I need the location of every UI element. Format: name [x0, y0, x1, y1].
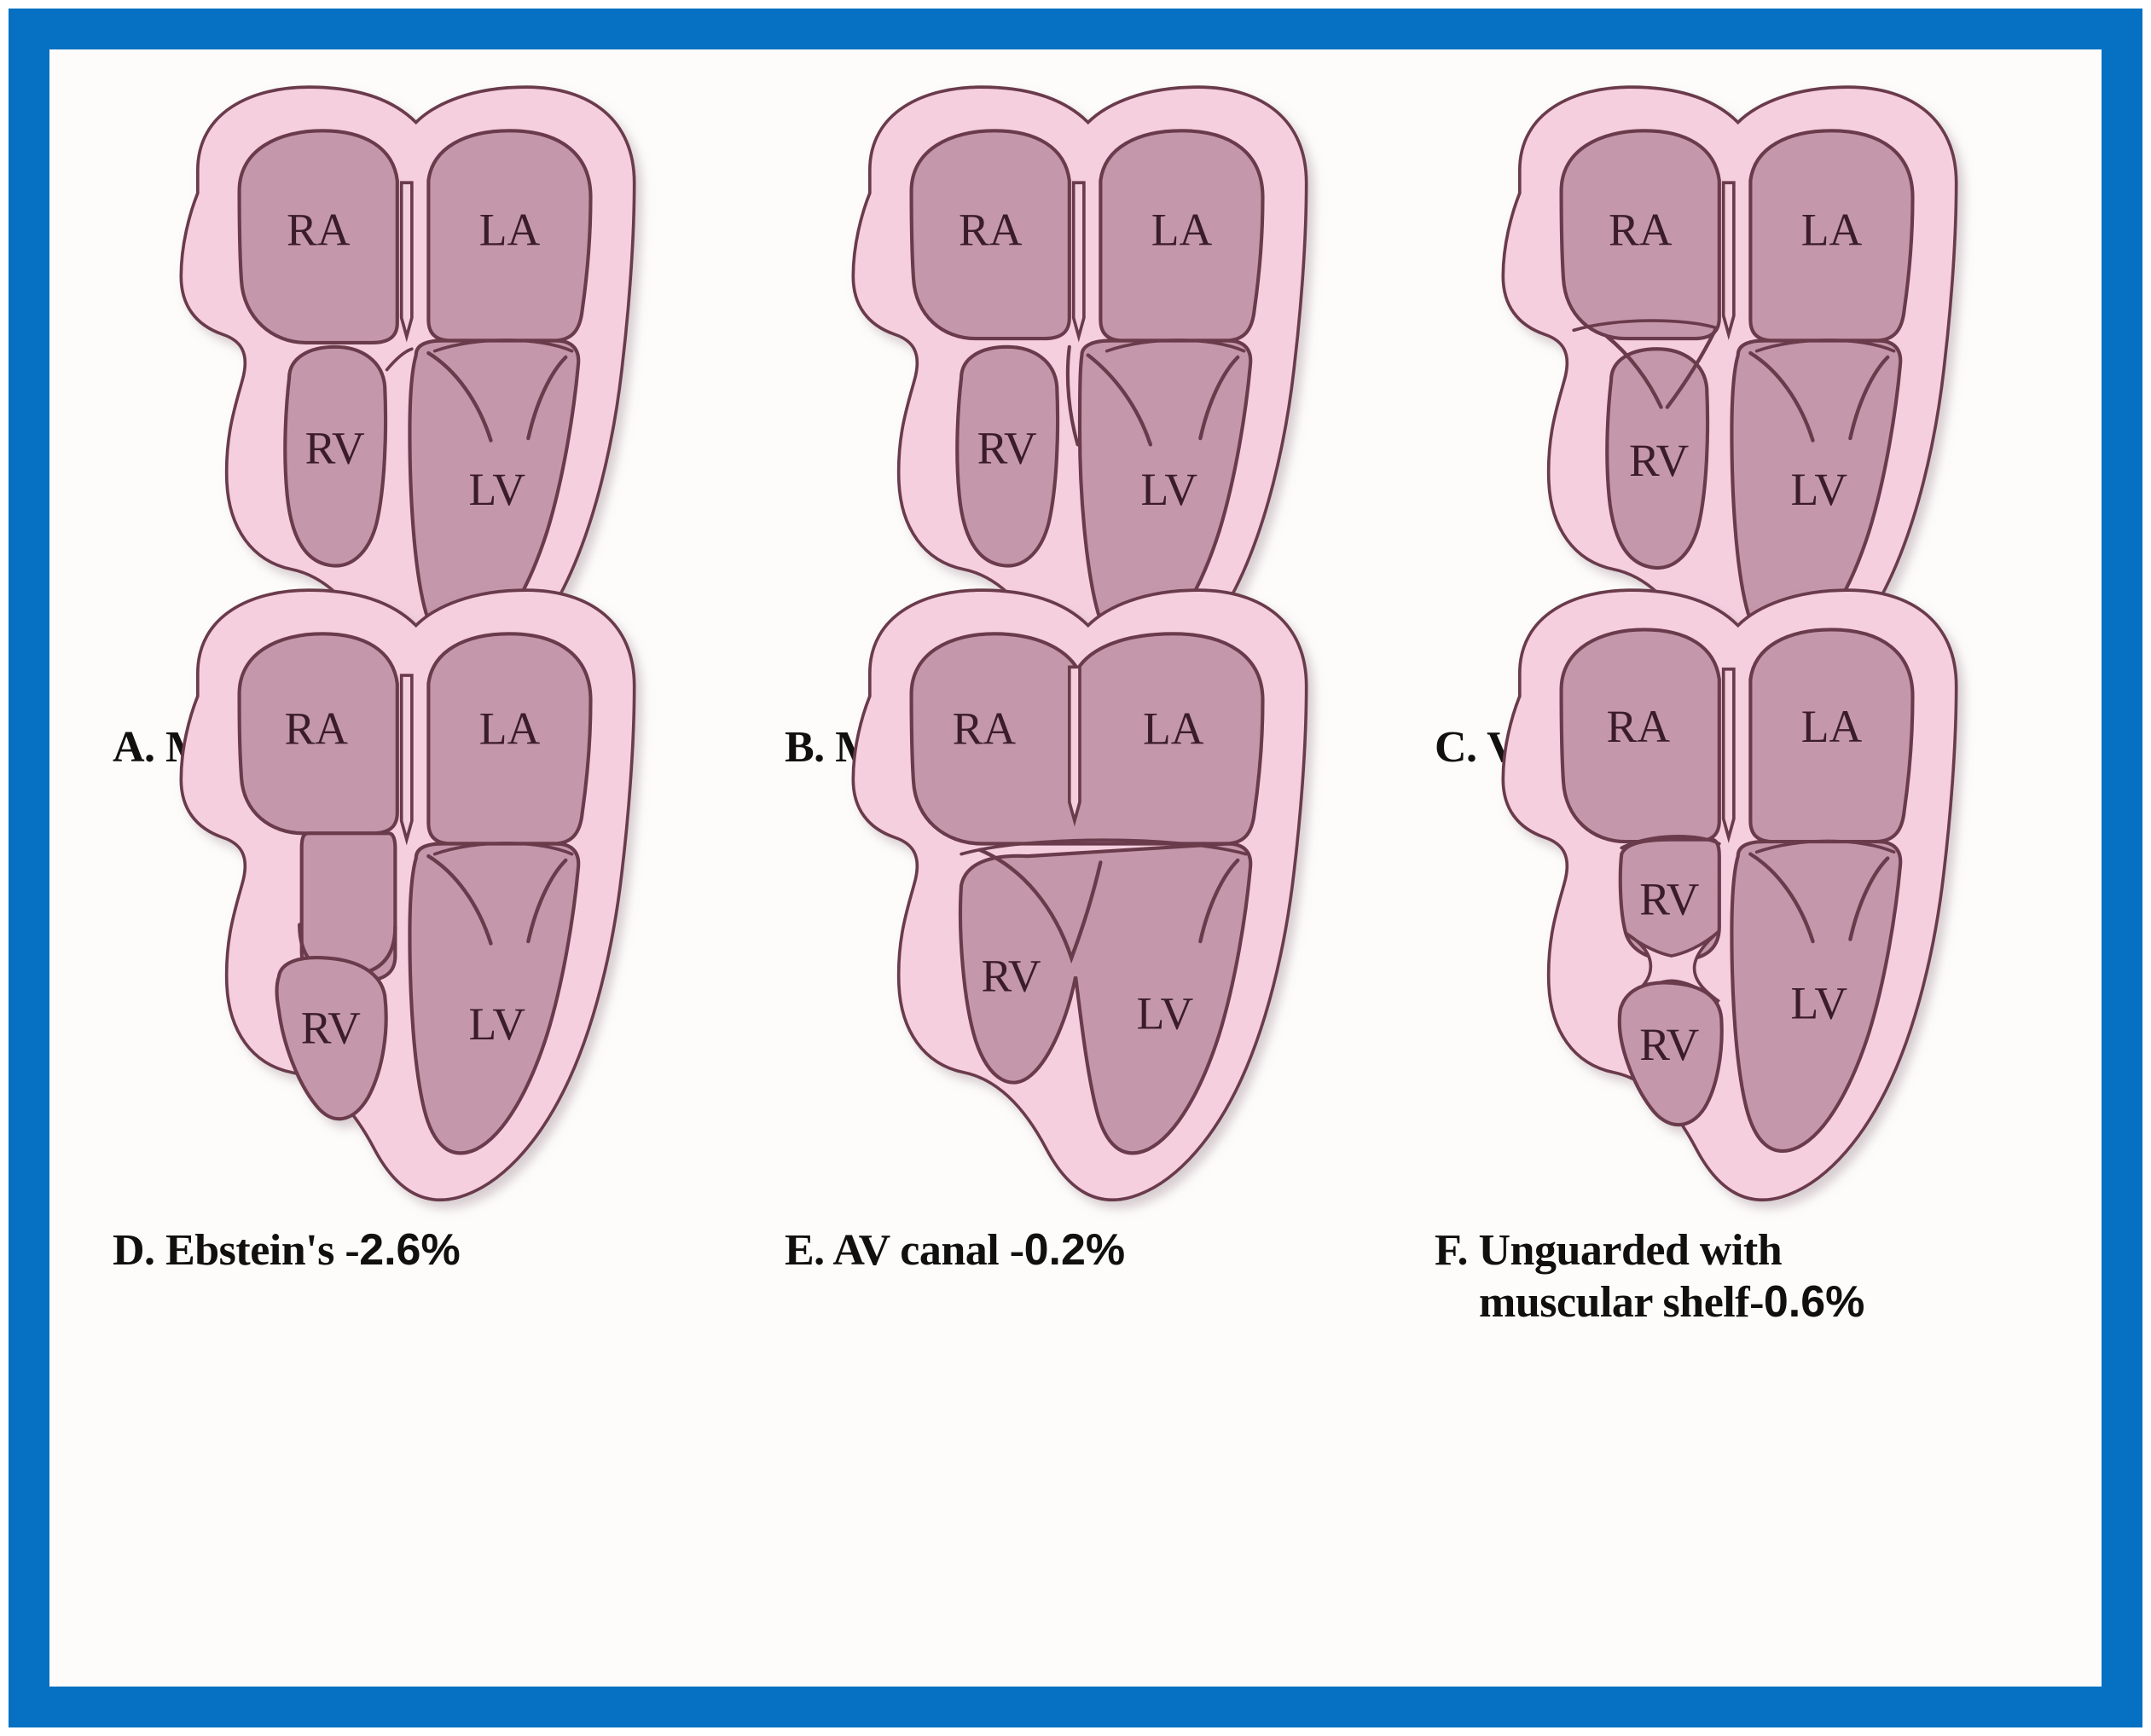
label-la: LA: [1143, 703, 1204, 755]
atrial-septum: [402, 182, 412, 336]
label-rv-upper: RV: [1639, 874, 1699, 925]
label-ra: RA: [1607, 701, 1671, 752]
heart-diagram-unguarded-muscular-shelf: RA LA RV RV LV: [1406, 561, 2054, 1226]
panel-unguarded-muscular-shelf: RA LA RV RV LV F. Unguarded with muscula…: [1406, 561, 2054, 1328]
figure-canvas: RA LA RV LV A. Muscular-89%: [49, 49, 2102, 1687]
label-la: LA: [1801, 701, 1863, 752]
label-la: LA: [479, 703, 541, 755]
label-ra: RA: [959, 205, 1023, 256]
caption-av-canal: E. AV canal -0.2%: [785, 1224, 1399, 1276]
caption-line2: muscular shelf-0.6%: [1435, 1276, 2049, 1328]
heart-diagram-ebsteins: RA LA RV LV: [84, 561, 732, 1226]
caption-separator: -: [1010, 1226, 1024, 1275]
label-ra: RA: [953, 703, 1017, 755]
caption-separator: -: [1749, 1278, 1764, 1327]
label-rv: RV: [305, 422, 365, 473]
label-la: LA: [479, 205, 541, 256]
label-lv: LV: [469, 464, 526, 515]
atrial-septum: [1074, 182, 1084, 336]
atrial-septum-primum-defect: [1070, 667, 1080, 820]
label-ra: RA: [285, 703, 349, 755]
caption-letter: D.: [113, 1226, 155, 1275]
caption-ebsteins: D. Ebstein's -2.6%: [113, 1224, 727, 1276]
label-lv: LV: [1137, 988, 1194, 1039]
label-lv: LV: [1141, 464, 1198, 515]
label-rv-lower: RV: [1639, 1019, 1699, 1070]
atrial-septum: [402, 675, 412, 840]
caption-percent: 0.6%: [1764, 1277, 1865, 1327]
label-lv: LV: [1791, 464, 1848, 515]
label-la: LA: [1151, 205, 1213, 256]
caption-unguarded-muscular-shelf: F. Unguarded with muscular shelf-0.6%: [1435, 1224, 2049, 1329]
label-rv: RV: [301, 1003, 361, 1054]
caption-separator: -: [345, 1226, 359, 1275]
atrial-septum: [1724, 182, 1734, 334]
label-lv: LV: [469, 998, 526, 1050]
label-rv: RV: [981, 951, 1041, 1002]
panel-av-canal: RA LA RV LV E. AV canal -0.2%: [756, 561, 1404, 1328]
caption-name-line1: Unguarded with: [1479, 1226, 1783, 1275]
caption-percent: 0.2%: [1024, 1225, 1126, 1275]
label-rv: RV: [977, 422, 1037, 473]
panel-ebsteins: RA LA RV LV D. Ebstein's -2.6%: [84, 561, 732, 1328]
caption-name: AV canal: [832, 1226, 999, 1275]
caption-percent: 2.6%: [359, 1225, 461, 1275]
caption-name: Ebstein's: [165, 1226, 334, 1275]
label-la: LA: [1801, 205, 1863, 256]
caption-letter: F.: [1435, 1226, 1468, 1275]
caption-letter: E.: [785, 1226, 825, 1275]
label-rv: RV: [1629, 435, 1689, 486]
figure-border: RA LA RV LV A. Muscular-89%: [9, 9, 2142, 1727]
label-ra: RA: [1609, 205, 1673, 256]
atrial-septum: [1724, 669, 1734, 837]
label-ra: RA: [287, 205, 351, 256]
caption-name-line2: muscular shelf: [1479, 1278, 1749, 1327]
heart-diagram-av-canal: RA LA RV LV: [756, 561, 1404, 1226]
label-lv: LV: [1791, 977, 1848, 1028]
